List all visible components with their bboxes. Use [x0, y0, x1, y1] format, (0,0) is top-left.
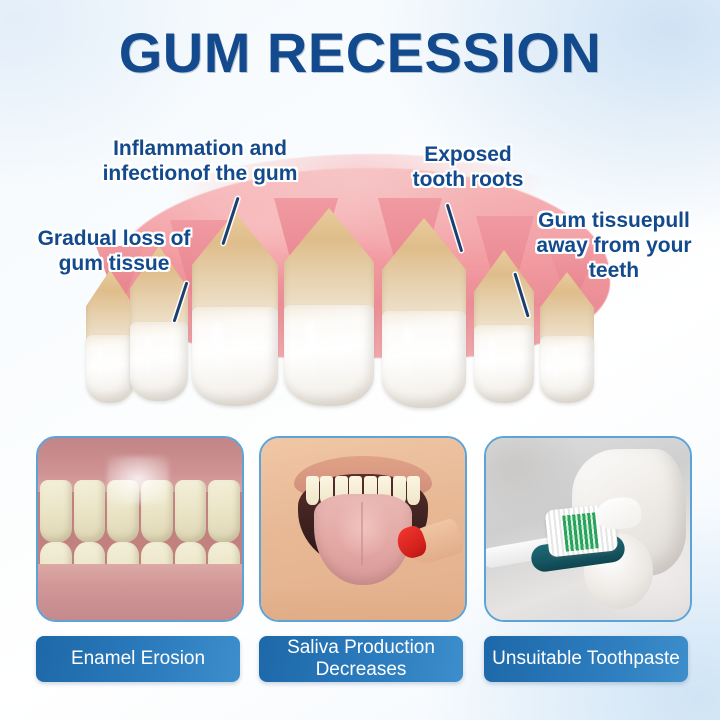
callout-inflammation: Inflammation and infectionof the gum	[75, 136, 325, 186]
cause-cards-row: Enamel Erosion	[0, 436, 720, 696]
mouth-tongue-art	[261, 438, 465, 620]
tooth-crown-1	[86, 335, 134, 403]
tooth-crown-4	[284, 305, 374, 406]
caption-saliva-production: Saliva Production Decreases	[259, 636, 463, 682]
tooth-4	[284, 208, 374, 402]
tooth-7	[540, 272, 594, 400]
caption-unsuitable-toothpaste: Unsuitable Toothpaste	[484, 636, 688, 682]
tooth-crown-3	[192, 307, 278, 406]
tooth-highlight-4	[304, 321, 318, 383]
tooth-crown-6	[474, 325, 534, 403]
tooth-item	[40, 480, 72, 542]
toothbrush-toothpaste-art	[486, 438, 690, 620]
tooth-item	[74, 480, 106, 542]
callout-gum-pull: Gum tissuepull away from your teeth	[516, 208, 712, 283]
mouth-tongue-photo	[259, 436, 467, 622]
card-saliva-production[interactable]: Saliva Production Decreases	[259, 436, 463, 682]
tooth-item	[407, 476, 420, 505]
tooth-1	[86, 270, 134, 400]
tooth-item	[208, 480, 240, 542]
caption-enamel-erosion: Enamel Erosion	[36, 636, 240, 682]
tooth-root-4	[284, 208, 374, 321]
tooth-root-5	[382, 218, 466, 326]
tooth-item	[175, 480, 207, 542]
tooth-crown-2	[130, 322, 188, 401]
tooth-highlight-3	[211, 322, 225, 383]
tooth-crown-7	[540, 336, 594, 403]
card-enamel-erosion[interactable]: Enamel Erosion	[36, 436, 240, 682]
tooth-crown-5	[382, 311, 466, 408]
callout-gradual-loss: Gradual loss of gum tissue	[14, 226, 214, 276]
card-unsuitable-toothpaste[interactable]: Unsuitable Toothpaste	[484, 436, 688, 682]
toothbrush-toothpaste-photo	[484, 436, 692, 622]
callout-exposed-roots: Exposed tooth roots	[398, 142, 538, 192]
teeth-closeup-photo	[36, 436, 244, 622]
tooth-highlight-1	[97, 345, 105, 387]
lower-gum	[36, 564, 244, 622]
gum-recession-infographic: GUM RECESSION	[0, 0, 720, 720]
green-bristles	[562, 513, 598, 553]
tooth-highlight-7	[552, 346, 561, 387]
page-title: GUM RECESSION	[0, 22, 720, 84]
tooth-item	[306, 476, 319, 505]
tooth-highlight-5	[400, 326, 413, 386]
teeth-closeup-art	[38, 438, 242, 620]
gum-recession-illustration	[78, 150, 648, 435]
photo-highlight	[107, 456, 168, 503]
chin	[261, 587, 465, 620]
tooth-5	[382, 218, 466, 404]
tooth-highlight-6	[487, 337, 497, 385]
tooth-highlight-2	[143, 334, 152, 383]
